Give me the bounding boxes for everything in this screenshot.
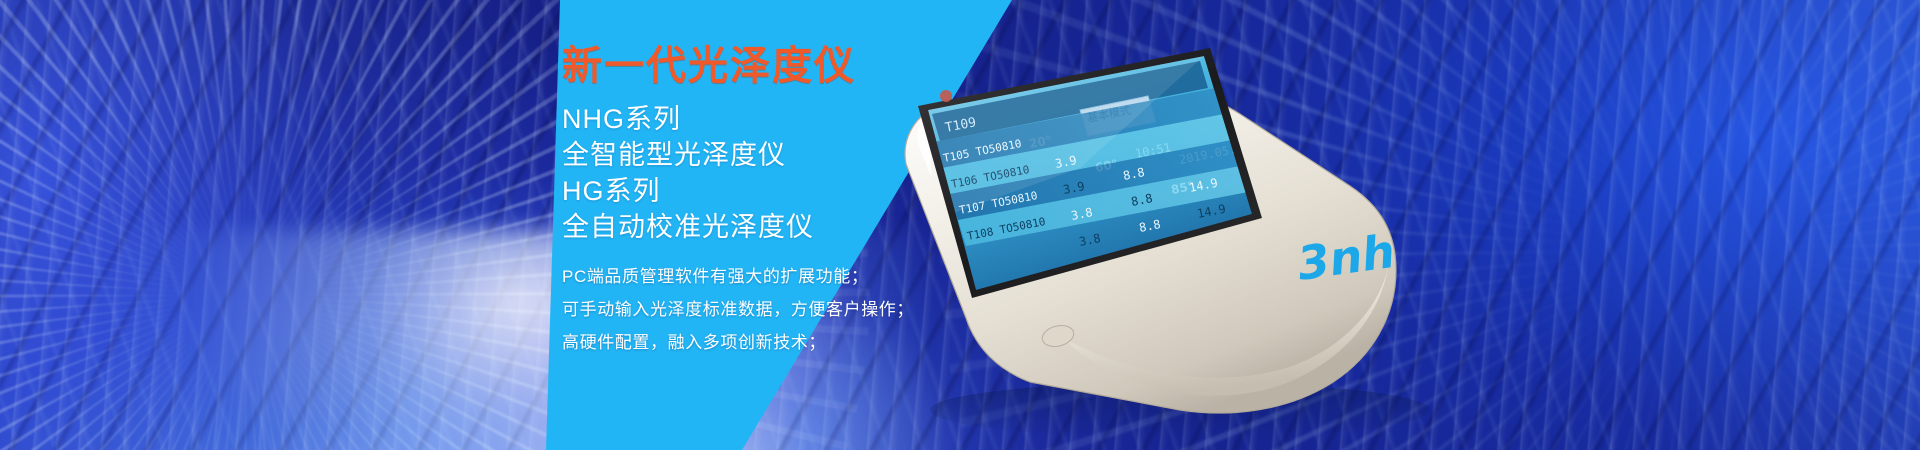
product-banner: 新一代光泽度仪 NHG系列 全智能型光泽度仪 HG系列 全自动校准光泽度仪 PC…: [0, 0, 1920, 450]
glossmeter-device: T109 基本模式 10:51 2019.05.08 20° 60° 85°: [880, 18, 1500, 438]
power-led-icon: [940, 90, 952, 102]
